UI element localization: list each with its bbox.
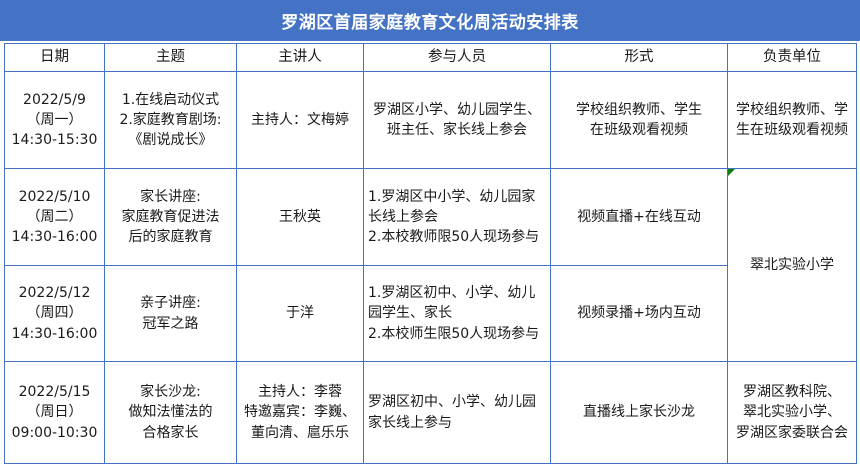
spreadsheet-canvas: 罗湖区首届家庭教育文化周活动安排表 日期 主题 主讲人 参与人员 形式 负责单位 [0,0,860,470]
cell-speaker[interactable]: 于洋 [237,266,364,362]
cell-text-line: 2022/5/9 [9,90,100,110]
cell-speaker[interactable]: 主持人：文梅婷 [237,72,364,169]
cell-text-line: 学校组织教师、学 [732,100,852,120]
cell-text-line: 2.本校师生限50人现场参与 [368,324,546,344]
format-lines: 视频直播+在线互动 [555,207,723,227]
cell-text-line: 1.在线启动仪式 [109,90,232,110]
cell-text-line: 园学生、家长 [368,303,546,323]
cell-text-line: 《剧说成长》 [109,130,232,150]
unit-lines: 罗湖区教科院、翠北实验小学、罗湖区家委联合会 [732,382,852,443]
topic-lines: 家长讲座:家庭教育促进法后的家庭教育 [109,187,232,248]
cell-text-line: （周二） [9,207,100,227]
cell-text-line: 14:30-16:00 [9,324,100,344]
cell-text-line: 罗湖区小学、幼儿园学生、 [368,100,546,120]
speaker-lines: 王秋英 [241,207,359,227]
cell-text-line: 家庭教育促进法 [109,207,232,227]
cell-text-line: 学校组织教师、学生 [555,100,723,120]
date-lines: 2022/5/15（周日）09:00-10:30 [9,382,100,443]
cell-text-line: 2022/5/12 [9,283,100,303]
participants-lines: 1.罗湖区初中、小学、幼儿园学生、家长2.本校师生限50人现场参与 [368,283,546,344]
unit-lines: 翠北实验小学 [732,255,852,275]
cell-text-line: 2022/5/10 [9,187,100,207]
table-row: 2022/5/15（周日）09:00-10:30 家长沙龙:做知法懂法的合格家长… [5,362,857,464]
cell-participants[interactable]: 1.罗湖区初中、小学、幼儿园学生、家长2.本校师生限50人现场参与 [364,266,551,362]
cell-unit-merged[interactable]: 翠北实验小学 [728,169,857,362]
participants-lines: 罗湖区初中、小学、幼儿园家长线上参与 [368,392,546,433]
speaker-lines: 于洋 [241,303,359,323]
cell-text-line: 翠北实验小学 [732,255,852,275]
column-header-topic[interactable]: 主题 [105,44,237,72]
cell-text-line: 14:30-15:30 [9,130,100,150]
participants-lines: 罗湖区小学、幼儿园学生、班主任、家长线上参会 [368,100,546,141]
column-header-date[interactable]: 日期 [5,44,105,72]
cell-text-line: 翠北实验小学、 [732,402,852,422]
cell-text-line: 亲子讲座: [109,293,232,313]
cell-participants[interactable]: 罗湖区初中、小学、幼儿园家长线上参与 [364,362,551,464]
cell-format[interactable]: 视频录播+场内互动 [551,266,728,362]
date-lines: 2022/5/10（周二）14:30-16:00 [9,187,100,248]
cell-participants[interactable]: 1.罗湖区中小学、幼儿园家长线上参会2.本校教师限50人现场参与 [364,169,551,266]
cell-text-line: 直播线上家长沙龙 [555,402,723,422]
format-lines: 视频录播+场内互动 [555,303,723,323]
cell-date[interactable]: 2022/5/9（周一）14:30-15:30 [5,72,105,169]
cell-text-line: 于洋 [241,303,359,323]
cell-text-line: 视频直播+在线互动 [555,207,723,227]
cell-text-line: 合格家长 [109,423,232,443]
participants-lines: 1.罗湖区中小学、幼儿园家长线上参会2.本校教师限50人现场参与 [368,187,546,248]
cell-topic[interactable]: 家长沙龙:做知法懂法的合格家长 [105,362,237,464]
cell-format[interactable]: 视频直播+在线互动 [551,169,728,266]
cell-text-line: 罗湖区教科院、 [732,382,852,402]
cell-text-line: 生在班级观看视频 [732,120,852,140]
table-body: 2022/5/9（周一）14:30-15:30 1.在线启动仪式2.家庭教育剧场… [5,72,857,464]
column-header-participants[interactable]: 参与人员 [364,44,551,72]
date-lines: 2022/5/12（周四）14:30-16:00 [9,283,100,344]
cell-text-line: 长线上参会 [368,207,546,227]
column-header-speaker[interactable]: 主讲人 [237,44,364,72]
column-header-unit[interactable]: 负责单位 [728,44,857,72]
cell-text-line: 做知法懂法的 [109,402,232,422]
cell-participants[interactable]: 罗湖区小学、幼儿园学生、班主任、家长线上参会 [364,72,551,169]
cell-text-line: 王秋英 [241,207,359,227]
cell-speaker[interactable]: 主持人：李蓉特邀嘉宾：李巍、董向清、扈乐乐 [237,362,364,464]
unit-lines: 学校组织教师、学生在班级观看视频 [732,100,852,141]
cell-text-line: 罗湖区家委联合会 [732,423,852,443]
table-row: 2022/5/10（周二）14:30-16:00 家长讲座:家庭教育促进法后的家… [5,169,857,266]
cell-text-line: 1.罗湖区中小学、幼儿园家 [368,187,546,207]
format-lines: 学校组织教师、学生在班级观看视频 [555,100,723,141]
cell-text-line: （周四） [9,303,100,323]
cell-text-line: 罗湖区初中、小学、幼儿园 [368,392,546,412]
activity-schedule-table: 日期 主题 主讲人 参与人员 形式 负责单位 2022/5/9（周一）14:30… [4,43,857,464]
cell-topic[interactable]: 亲子讲座:冠军之路 [105,266,237,362]
cell-text-line: 家长讲座: [109,187,232,207]
table-header: 日期 主题 主讲人 参与人员 形式 负责单位 [5,44,857,72]
cell-unit[interactable]: 学校组织教师、学生在班级观看视频 [728,72,857,169]
speaker-lines: 主持人：文梅婷 [241,110,359,130]
cell-topic[interactable]: 家长讲座:家庭教育促进法后的家庭教育 [105,169,237,266]
cell-text-line: 冠军之路 [109,314,232,334]
topic-lines: 亲子讲座:冠军之路 [109,293,232,334]
cell-unit[interactable]: 罗湖区教科院、翠北实验小学、罗湖区家委联合会 [728,362,857,464]
speaker-lines: 主持人：李蓉特邀嘉宾：李巍、董向清、扈乐乐 [241,382,359,443]
format-lines: 直播线上家长沙龙 [555,402,723,422]
column-header-format[interactable]: 形式 [551,44,728,72]
table-row: 2022/5/9（周一）14:30-15:30 1.在线启动仪式2.家庭教育剧场… [5,72,857,169]
cell-date[interactable]: 2022/5/12（周四）14:30-16:00 [5,266,105,362]
cell-date[interactable]: 2022/5/10（周二）14:30-16:00 [5,169,105,266]
cell-text-line: 2022/5/15 [9,382,100,402]
cell-text-line: 班主任、家长线上参会 [368,120,546,140]
cell-text-line: 董向清、扈乐乐 [241,423,359,443]
cell-text-line: 09:00-10:30 [9,423,100,443]
date-lines: 2022/5/9（周一）14:30-15:30 [9,90,100,151]
cell-text-line: 后的家庭教育 [109,227,232,247]
cell-text-line: （周一） [9,110,100,130]
cell-text-line: 家长沙龙: [109,382,232,402]
cell-text-line: 主持人：李蓉 [241,382,359,402]
cell-text-line: 1.罗湖区初中、小学、幼儿 [368,283,546,303]
topic-lines: 家长沙龙:做知法懂法的合格家长 [109,382,232,443]
cell-text-line: 14:30-16:00 [9,227,100,247]
cell-text-line: 2.家庭教育剧场: [109,110,232,130]
cell-error-flag-icon [728,169,735,176]
cell-text-line: 在班级观看视频 [555,120,723,140]
cell-format[interactable]: 直播线上家长沙龙 [551,362,728,464]
cell-text-line: 家长线上参与 [368,413,546,433]
cell-topic[interactable]: 1.在线启动仪式2.家庭教育剧场:《剧说成长》 [105,72,237,169]
cell-text-line: 2.本校教师限50人现场参与 [368,227,546,247]
cell-text-line: 主持人：文梅婷 [241,110,359,130]
cell-text-line: 特邀嘉宾：李巍、 [241,402,359,422]
page-title: 罗湖区首届家庭教育文化周活动安排表 [0,0,860,41]
cell-speaker[interactable]: 王秋英 [237,169,364,266]
cell-text-line: 视频录播+场内互动 [555,303,723,323]
cell-date[interactable]: 2022/5/15（周日）09:00-10:30 [5,362,105,464]
topic-lines: 1.在线启动仪式2.家庭教育剧场:《剧说成长》 [109,90,232,151]
cell-format[interactable]: 学校组织教师、学生在班级观看视频 [551,72,728,169]
cell-text-line: （周日） [9,402,100,422]
header-row: 日期 主题 主讲人 参与人员 形式 负责单位 [5,44,857,72]
